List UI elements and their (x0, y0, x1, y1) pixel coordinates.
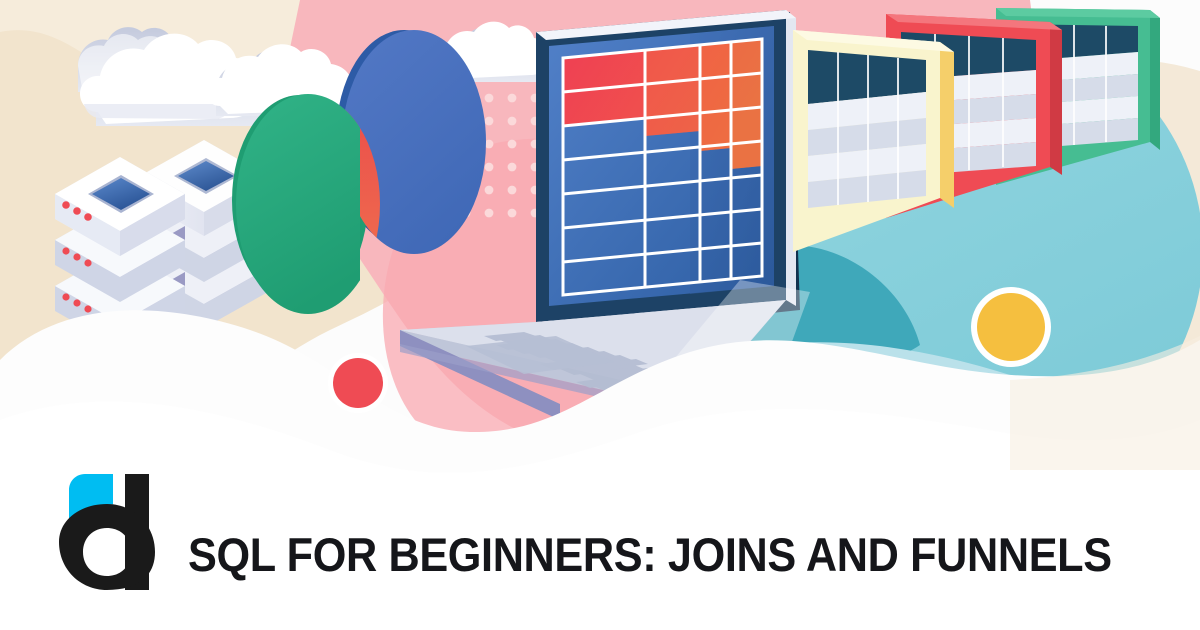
red-dot-circle (328, 353, 388, 413)
banner-root: SQL FOR BEGINNERS: JOINS AND FUNNELS (0, 0, 1200, 630)
venn-ellipse-green (236, 94, 380, 314)
page-title: SQL FOR BEGINNERS: JOINS AND FUNNELS (188, 531, 1112, 578)
dataquest-d-logo[interactable] (55, 472, 161, 592)
logo-mark (55, 472, 161, 592)
yellow-dot-circle (971, 287, 1051, 367)
